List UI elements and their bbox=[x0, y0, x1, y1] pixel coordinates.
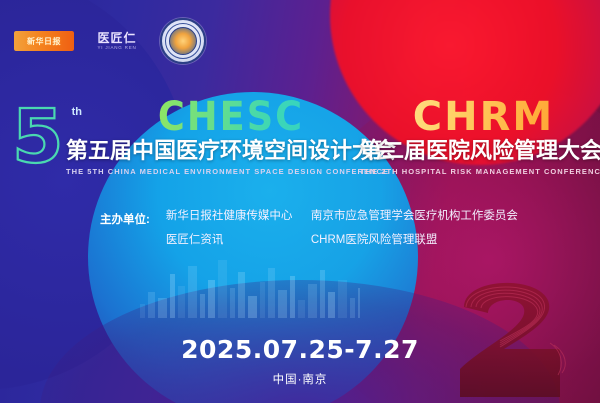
yijiangren-logo-cn: 医匠仁 bbox=[92, 32, 142, 44]
event-location: 中国·南京 bbox=[0, 371, 600, 387]
chesc-en-title: THE 5TH CHINA MEDICAL ENVIRONMENT SPACE … bbox=[66, 167, 396, 176]
association-seal-logo bbox=[160, 18, 206, 64]
organizers-section: 主办单位: 新华日报社健康传媒中心 医匠仁资讯 南京市应急管理学会医疗机构工作委… bbox=[100, 210, 526, 247]
seal-ring bbox=[165, 23, 201, 59]
chesc-conference-block: CHESC 第五届中国医疗环境空间设计大会 THE 5TH CHINA MEDI… bbox=[66, 96, 396, 176]
chrm-en-title: THE 2TH HOSPITAL RISK MANAGEMENT CONFERE… bbox=[360, 167, 600, 176]
organizer-item: 新华日报社健康传媒中心 bbox=[166, 210, 311, 223]
organizers-column-two: 南京市应急管理学会医疗机构工作委员会 CHRM医院风险管理联盟 bbox=[311, 210, 526, 247]
yijiangren-logo-en: YI JIANG REN bbox=[92, 46, 142, 51]
chesc-cn-title: 第五届中国医疗环境空间设计大会 bbox=[66, 138, 396, 164]
title-block: 5 th CHESC 第五届中国医疗环境空间设计大会 THE 5TH CHINA… bbox=[0, 86, 600, 186]
city-skyline-silhouette bbox=[140, 258, 360, 318]
xinhua-daily-logo: 新华日报 bbox=[14, 31, 74, 51]
event-date: 2025.07.25-7.27 bbox=[0, 335, 600, 364]
organizer-item: CHRM医院风险管理联盟 bbox=[311, 234, 526, 247]
organizers-label: 主办单位: bbox=[100, 210, 150, 247]
chesc-acronym: CHESC bbox=[63, 96, 400, 138]
organizer-item: 南京市应急管理学会医疗机构工作委员会 bbox=[311, 210, 526, 223]
organizer-item: 医匠仁资讯 bbox=[166, 234, 311, 247]
chrm-cn-title: 第二届医院风险管理大会 bbox=[360, 138, 600, 164]
edition-number: 5 bbox=[12, 100, 64, 174]
yijiangren-logo: 医匠仁 YI JIANG REN bbox=[92, 32, 142, 51]
event-date-block: 2025.07.25-7.27 中国·南京 bbox=[0, 335, 600, 387]
chrm-conference-block: CHRM 第二届医院风险管理大会 THE 2TH HOSPITAL RISK M… bbox=[360, 96, 600, 176]
sponsor-logo-bar: 新华日报 医匠仁 YI JIANG REN bbox=[14, 18, 206, 64]
organizers-column-one: 新华日报社健康传媒中心 医匠仁资讯 bbox=[166, 210, 311, 247]
chrm-acronym: CHRM bbox=[360, 96, 600, 138]
conference-poster: 新华日报 医匠仁 YI JIANG REN 5 th CHESC 第五届中国医疗… bbox=[0, 0, 600, 403]
